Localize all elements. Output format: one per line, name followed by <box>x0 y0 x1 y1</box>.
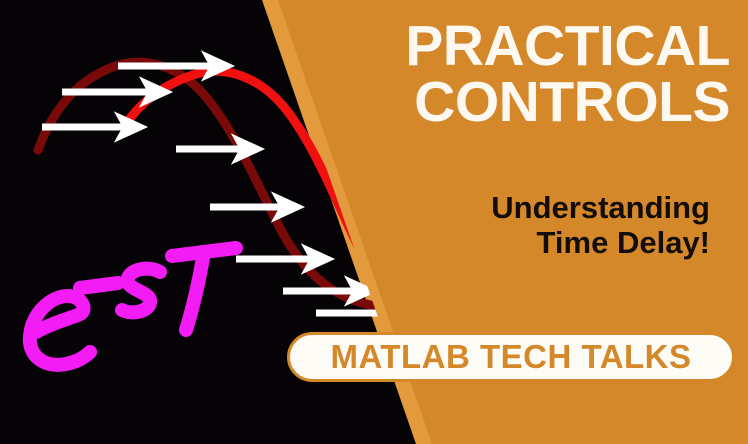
series-badge-label: MATLAB TECH TALKS <box>330 338 691 376</box>
headline-line-2: CONTROLS <box>310 74 730 130</box>
series-badge: MATLAB TECH TALKS <box>287 332 735 382</box>
video-thumbnail: PRACTICAL CONTROLS Understanding Time De… <box>0 0 748 444</box>
subhead-line-2: Time Delay! <box>310 225 710 260</box>
page-subtitle: Understanding Time Delay! <box>310 190 710 261</box>
page-title: PRACTICAL CONTROLS <box>310 18 730 131</box>
headline-line-1: PRACTICAL <box>310 18 730 74</box>
subhead-line-1: Understanding <box>310 190 710 225</box>
